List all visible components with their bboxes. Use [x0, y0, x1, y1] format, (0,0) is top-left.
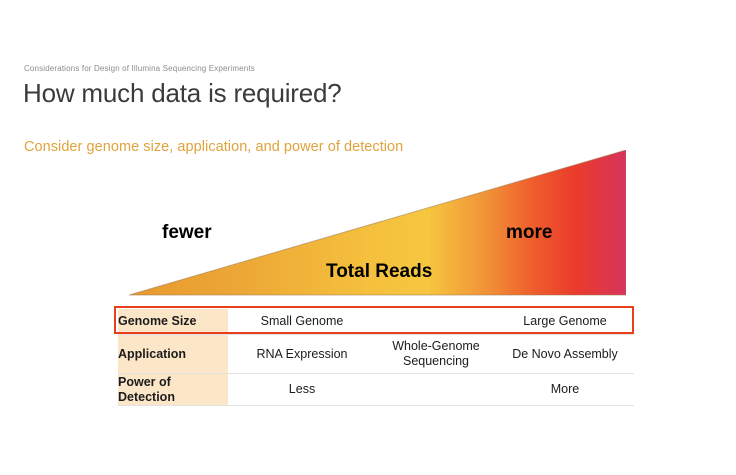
table-row: Application RNA Expression Whole-Genome …	[118, 335, 634, 374]
slide-eyebrow: Considerations for Design of Illumina Se…	[24, 64, 255, 73]
row-label-power-of-detection: Power of Detection	[118, 374, 228, 406]
cell-genome-left: Small Genome	[228, 309, 376, 335]
cell-genome-right: Large Genome	[496, 309, 634, 335]
cell-application-right: De Novo Assembly	[496, 335, 634, 374]
cell-power-mid	[376, 374, 496, 406]
triangle-label-total-reads: Total Reads	[326, 261, 432, 283]
table-row: Genome Size Small Genome Large Genome	[118, 309, 634, 335]
triangle-label-more: more	[506, 222, 552, 244]
slide-canvas: Considerations for Design of Illumina Se…	[0, 0, 736, 475]
page-title: How much data is required?	[23, 78, 342, 109]
row-label-genome-size: Genome Size	[118, 309, 228, 335]
cell-application-mid: Whole-Genome Sequencing	[376, 335, 496, 374]
table-row: Power of Detection Less More	[118, 374, 634, 406]
triangle-label-fewer: fewer	[162, 222, 212, 244]
row-label-application: Application	[118, 335, 228, 374]
comparison-table: Genome Size Small Genome Large Genome Ap…	[118, 309, 634, 406]
cell-power-right: More	[496, 374, 634, 406]
cell-application-left: RNA Expression	[228, 335, 376, 374]
cell-genome-mid	[376, 309, 496, 335]
cell-power-left: Less	[228, 374, 376, 406]
